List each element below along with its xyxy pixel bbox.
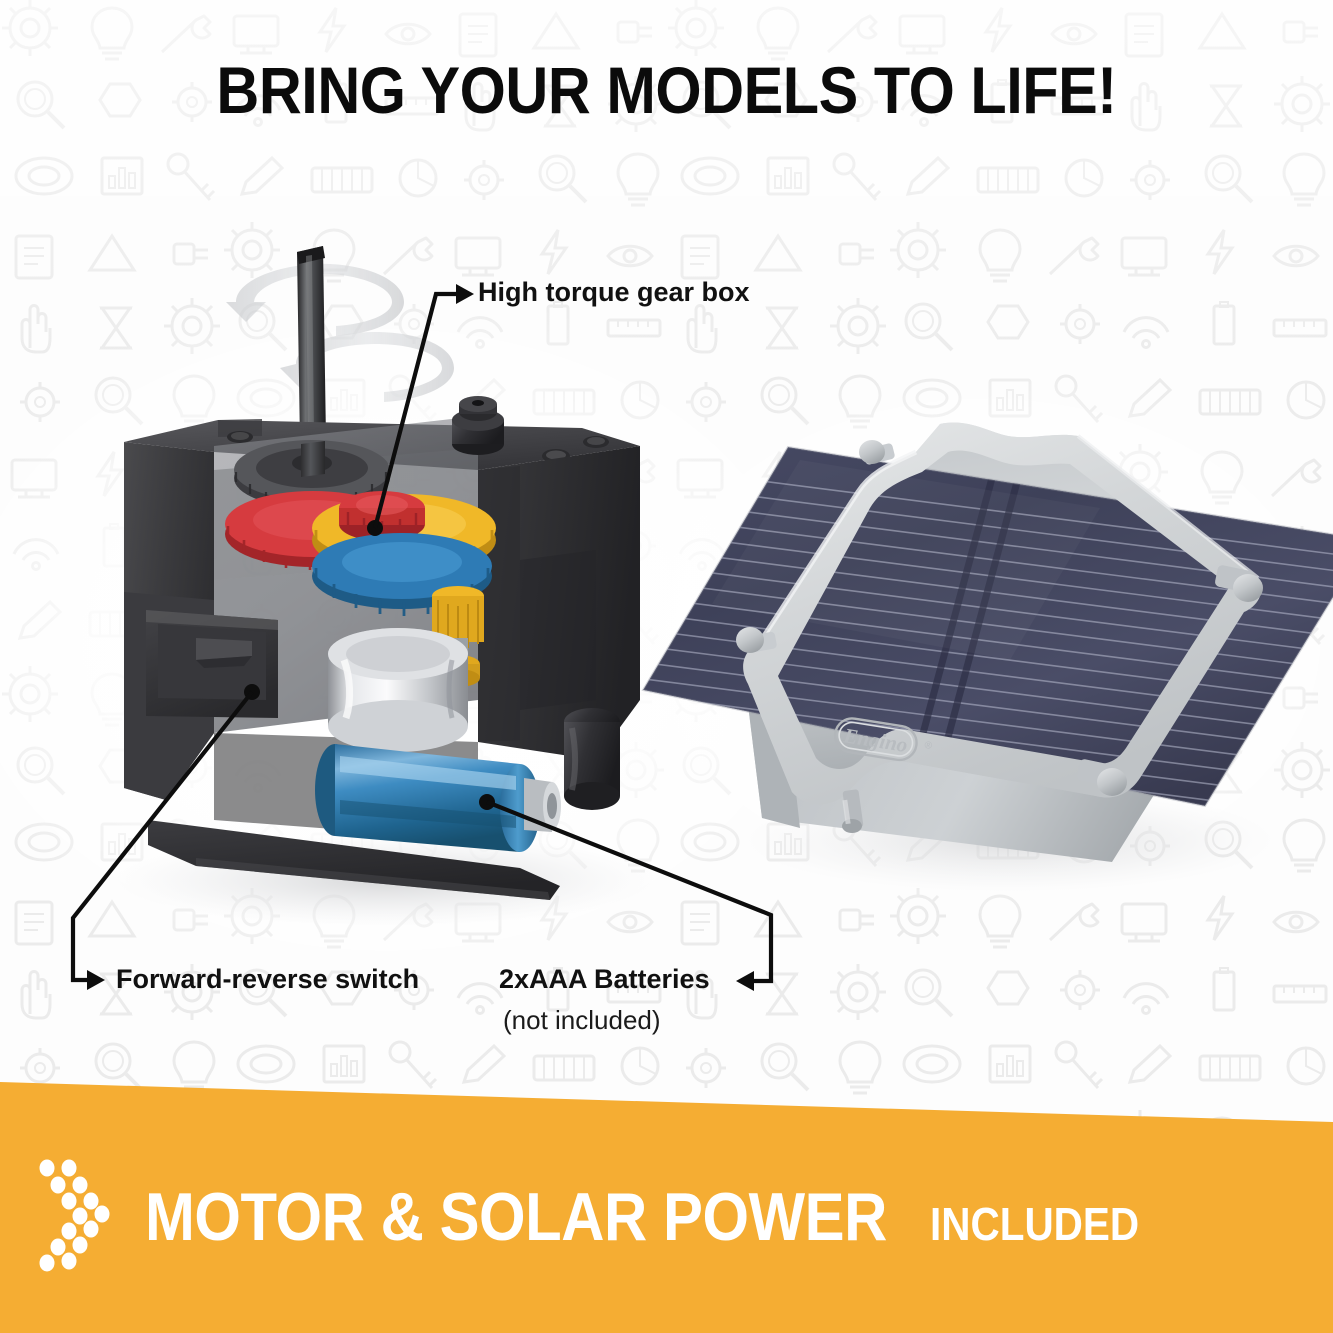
aaa-battery: [315, 744, 561, 852]
callout-label-battery: 2xAAA Batteries: [499, 964, 710, 995]
callout-sublabel-battery: (not included): [503, 1005, 661, 1036]
chevron-dots-icon: [38, 1156, 130, 1276]
motor-unit-illustration: [124, 246, 640, 900]
banner-headline: MOTOR & SOLAR POWER: [145, 1178, 887, 1256]
bottom-banner: MOTOR & SOLAR POWER INCLUDED: [0, 1060, 1333, 1333]
dc-motor-can: [328, 628, 468, 752]
motor-rear-peg: [564, 708, 620, 810]
output-drive-shaft: [297, 246, 326, 444]
forward-reverse-switch[interactable]: [146, 610, 278, 718]
rotation-arrows-icon: [226, 264, 454, 402]
motor-top-connector-peg: [452, 396, 504, 455]
poster-canvas: BRING YOUR MODELS TO LIFE!: [0, 0, 1333, 1333]
callout-label-switch: Forward-reverse switch: [116, 964, 419, 995]
banner-text-group: MOTOR & SOLAR POWER INCLUDED: [145, 1178, 1168, 1256]
banner-subheadline: INCLUDED: [930, 1197, 1139, 1251]
solar-panel-illustration: Engino ®: [606, 423, 1333, 862]
callout-label-gearbox: High torque gear box: [478, 277, 750, 308]
page-title: BRING YOUR MODELS TO LIFE!: [67, 52, 1267, 128]
